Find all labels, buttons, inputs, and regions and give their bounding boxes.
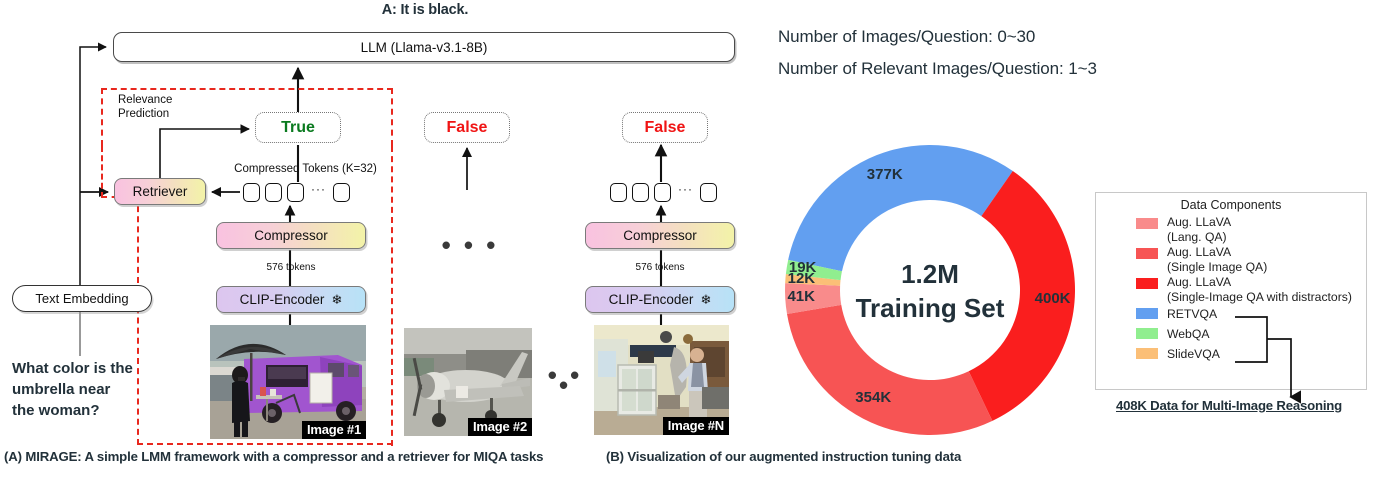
images-ellipsis: • • •: [540, 370, 590, 390]
legend-color-swatch: [1136, 278, 1158, 289]
donut-center-total: 1.2M: [783, 259, 1077, 290]
donut-slice-label: 41K: [787, 288, 815, 305]
token-square: [654, 183, 671, 202]
answer-text: A: It is black.: [300, 2, 550, 18]
compressed-tokens-label: Compressed Tokens (K=32): [218, 163, 393, 175]
legend-color-swatch: [1136, 248, 1158, 259]
legend-label-line-2: (Single-Image QA with distractors): [1167, 290, 1352, 304]
clip-encoder-label: CLIP-Encoder: [609, 292, 694, 307]
legend-color-swatch: [1136, 308, 1158, 319]
legend-item: Aug. LLaVA(Single-Image QA with distract…: [1136, 275, 1366, 304]
legend-item: RETVQA: [1136, 305, 1366, 324]
token-square: [700, 183, 717, 202]
legend-color-swatch: [1136, 328, 1158, 339]
snowflake-icon: ❄: [331, 292, 342, 308]
donut-slice: [788, 145, 1013, 271]
legend-label-line-2: (Lang. QA): [1167, 230, 1227, 244]
token-square: [632, 183, 649, 202]
panel-a-caption: (A) MIRAGE: A simple LMM framework with …: [4, 449, 624, 464]
relevance-false-box-2: False: [424, 112, 510, 143]
donut-chart: 1.2M Training Set 377K400K354K41K12K19K: [783, 143, 1077, 437]
stat-images-per-question: Number of Images/Question: 0~30: [778, 27, 1035, 47]
legend-panel: Data Components Aug. LLaVA(Lang. QA)Aug.…: [1095, 192, 1367, 390]
legend-label-line-1: Aug. LLaVA: [1167, 215, 1231, 229]
token-square: [287, 183, 304, 202]
compressor-box-1: Compressor: [216, 222, 366, 249]
compressor-box-n: Compressor: [585, 222, 735, 249]
relevance-line-2: Prediction: [118, 108, 169, 120]
legend-color-swatch: [1136, 348, 1158, 359]
relevance-region-border-right: [391, 146, 394, 446]
token-square: [610, 183, 627, 202]
legend-item-label: WebQA: [1167, 325, 1209, 344]
compressed-token-row-n: ···: [610, 182, 717, 202]
relevance-region-border-bottom: [137, 443, 393, 446]
legend-label-line-1: Aug. LLaVA: [1167, 245, 1231, 259]
token-square: [265, 183, 282, 202]
stat-relevant-images-per-question: Number of Relevant Images/Question: 1~3: [778, 59, 1097, 79]
legend-item-label: Aug. LLaVA(Lang. QA): [1167, 215, 1231, 244]
relevance-line-1: Relevance: [118, 94, 172, 106]
image-thumbnail-n: Image #N: [594, 325, 729, 435]
pipeline-ellipsis: • • •: [440, 240, 500, 250]
donut-chart-svg: [783, 143, 1077, 437]
question-line-3: the woman?: [12, 402, 100, 419]
legend-item: Aug. LLaVA(Lang. QA): [1136, 215, 1366, 244]
donut-slice-label: 400K: [1035, 290, 1071, 307]
token-ellipsis: ···: [676, 182, 695, 202]
image-thumbnail-1: Image #1: [210, 325, 366, 439]
relevance-true-box: True: [255, 112, 341, 143]
token-square: [243, 183, 260, 202]
token-count-label-1: 576 tokens: [216, 262, 366, 273]
clip-encoder-box-1: CLIP-Encoder ❄: [216, 286, 366, 313]
legend-item: WebQA: [1136, 325, 1366, 344]
token-square: [333, 183, 350, 202]
panel-b-caption: (B) Visualization of our augmented instr…: [606, 449, 1206, 464]
legend-item-label: SlideVQA: [1167, 345, 1220, 364]
question-text: What color is the umbrella near the woma…: [12, 358, 172, 421]
legend-item-label: Aug. LLaVA(Single Image QA): [1167, 245, 1267, 274]
legend-label-line-1: Aug. LLaVA: [1167, 275, 1231, 289]
legend-item: SlideVQA: [1136, 345, 1366, 364]
snowflake-icon: ❄: [700, 292, 711, 308]
token-count-label-n: 576 tokens: [585, 262, 735, 273]
multi-image-reasoning-note: 408K Data for Multi-Image Reasoning: [1086, 398, 1372, 413]
question-line-1: What color is the: [12, 360, 133, 377]
image-thumbnail-2: Image #2: [404, 328, 532, 436]
figure-root: A: It is black. LLM (Llama-v3.1-8B): [0, 0, 1376, 477]
llm-box: LLM (Llama-v3.1-8B): [113, 32, 735, 62]
compressed-token-row-1: ···: [243, 182, 350, 202]
legend-item-label: Aug. LLaVA(Single-Image QA with distract…: [1167, 275, 1352, 304]
image-caption-2: Image #2: [468, 418, 532, 436]
image-caption-n: Image #N: [663, 417, 729, 435]
donut-slice-label: 19K: [789, 259, 817, 276]
token-ellipsis: ···: [309, 182, 328, 202]
relevance-false-box-n: False: [622, 112, 708, 143]
donut-slice: [787, 305, 992, 435]
clip-encoder-box-n: CLIP-Encoder ❄: [585, 286, 735, 313]
legend-rows: Aug. LLaVA(Lang. QA)Aug. LLaVA(Single Im…: [1096, 215, 1366, 364]
text-embedding-box: Text Embedding: [12, 285, 152, 312]
question-line-2: umbrella near: [12, 381, 110, 398]
legend-title: Data Components: [1096, 193, 1366, 215]
donut-slice-label: 354K: [855, 389, 891, 406]
image-caption-1: Image #1: [302, 421, 366, 439]
relevance-prediction-label: Relevance Prediction: [118, 94, 228, 121]
panel-a-architecture-diagram: A: It is black. LLM (Llama-v3.1-8B): [0, 0, 760, 477]
retriever-box: Retriever: [114, 178, 206, 205]
legend-color-swatch: [1136, 218, 1158, 229]
legend-item-label: RETVQA: [1167, 305, 1217, 324]
donut-slice-label: 377K: [867, 166, 903, 183]
donut-center-subtitle: Training Set: [783, 293, 1077, 324]
legend-item: Aug. LLaVA(Single Image QA): [1136, 245, 1366, 274]
clip-encoder-label: CLIP-Encoder: [240, 292, 325, 307]
legend-label-line-2: (Single Image QA): [1167, 260, 1267, 274]
